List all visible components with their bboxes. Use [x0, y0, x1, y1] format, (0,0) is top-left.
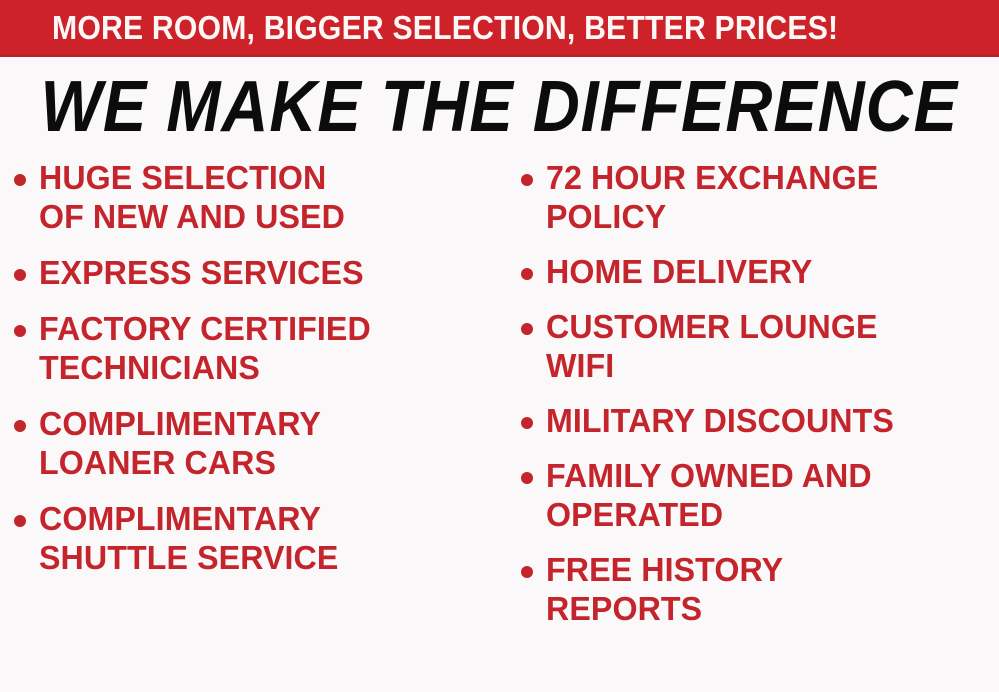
bullet-dot-icon	[521, 268, 533, 280]
list-item-line: COMPLIMENTARY	[39, 499, 338, 538]
list-item-line: 72 HOUR EXCHANGE	[546, 158, 878, 197]
list-item: HOME DELIVERY	[521, 252, 999, 291]
list-item-line: POLICY	[546, 197, 878, 236]
list-item-label: HOME DELIVERY	[546, 252, 812, 291]
promo-banner: MORE ROOM, BIGGER SELECTION, BETTER PRIC…	[0, 0, 999, 57]
bullet-dot-icon	[14, 174, 26, 186]
list-item-line: REPORTS	[546, 589, 783, 628]
benefits-column-right: 72 HOUR EXCHANGEPOLICYHOME DELIVERYCUSTO…	[505, 158, 999, 644]
bullet-dot-icon	[14, 515, 26, 527]
page-title: WE MAKE THE DIFFERENCE	[41, 70, 958, 143]
bullet-dot-icon	[521, 174, 533, 186]
list-item: FREE HISTORYREPORTS	[521, 550, 999, 628]
list-item-label: CUSTOMER LOUNGEWIFI	[546, 307, 878, 385]
benefits-column-left: HUGE SELECTIONOF NEW AND USEDEXPRESS SER…	[0, 158, 505, 594]
list-item-line: FREE HISTORY	[546, 550, 783, 589]
bullet-dot-icon	[14, 420, 26, 432]
list-item-line: OF NEW AND USED	[39, 197, 345, 236]
list-item-label: COMPLIMENTARYSHUTTLE SERVICE	[39, 499, 338, 577]
list-item-label: FACTORY CERTIFIEDTECHNICIANS	[39, 309, 371, 387]
bullet-dot-icon	[14, 325, 26, 337]
list-item-label: HUGE SELECTIONOF NEW AND USED	[39, 158, 345, 236]
list-item-line: WIFI	[546, 346, 878, 385]
list-item: CUSTOMER LOUNGEWIFI	[521, 307, 999, 385]
list-item-line: CUSTOMER LOUNGE	[546, 307, 878, 346]
list-item-label: COMPLIMENTARYLOANER CARS	[39, 404, 321, 482]
list-item: MILITARY DISCOUNTS	[521, 401, 999, 440]
list-item-label: MILITARY DISCOUNTS	[546, 401, 894, 440]
bullet-dot-icon	[521, 323, 533, 335]
list-item-line: FACTORY CERTIFIED	[39, 309, 371, 348]
list-item: HUGE SELECTIONOF NEW AND USED	[14, 158, 505, 236]
list-item-line: LOANER CARS	[39, 443, 321, 482]
headline-container: WE MAKE THE DIFFERENCE	[0, 60, 999, 152]
bullet-dot-icon	[521, 417, 533, 429]
list-item: 72 HOUR EXCHANGEPOLICY	[521, 158, 999, 236]
list-item-label: FAMILY OWNED ANDOPERATED	[546, 456, 872, 534]
list-item: COMPLIMENTARYLOANER CARS	[14, 404, 505, 482]
list-item-label: EXPRESS SERVICES	[39, 253, 364, 292]
list-item: EXPRESS SERVICES	[14, 253, 505, 292]
bullet-dot-icon	[521, 472, 533, 484]
list-item: FAMILY OWNED ANDOPERATED	[521, 456, 999, 534]
bullet-dot-icon	[14, 269, 26, 281]
list-item-label: FREE HISTORYREPORTS	[546, 550, 783, 628]
promo-banner-text: MORE ROOM, BIGGER SELECTION, BETTER PRIC…	[52, 11, 838, 44]
list-item-line: COMPLIMENTARY	[39, 404, 321, 443]
list-item-label: 72 HOUR EXCHANGEPOLICY	[546, 158, 878, 236]
list-item: COMPLIMENTARYSHUTTLE SERVICE	[14, 499, 505, 577]
list-item: FACTORY CERTIFIEDTECHNICIANS	[14, 309, 505, 387]
list-item-line: HUGE SELECTION	[39, 158, 345, 197]
list-item-line: FAMILY OWNED AND	[546, 456, 872, 495]
benefits-columns: HUGE SELECTIONOF NEW AND USEDEXPRESS SER…	[0, 158, 999, 692]
list-item-line: TECHNICIANS	[39, 348, 371, 387]
bullet-dot-icon	[521, 566, 533, 578]
list-item-line: OPERATED	[546, 495, 872, 534]
list-item-line: MILITARY DISCOUNTS	[546, 401, 894, 440]
list-item-line: HOME DELIVERY	[546, 252, 812, 291]
list-item-line: SHUTTLE SERVICE	[39, 538, 338, 577]
list-item-line: EXPRESS SERVICES	[39, 253, 364, 292]
